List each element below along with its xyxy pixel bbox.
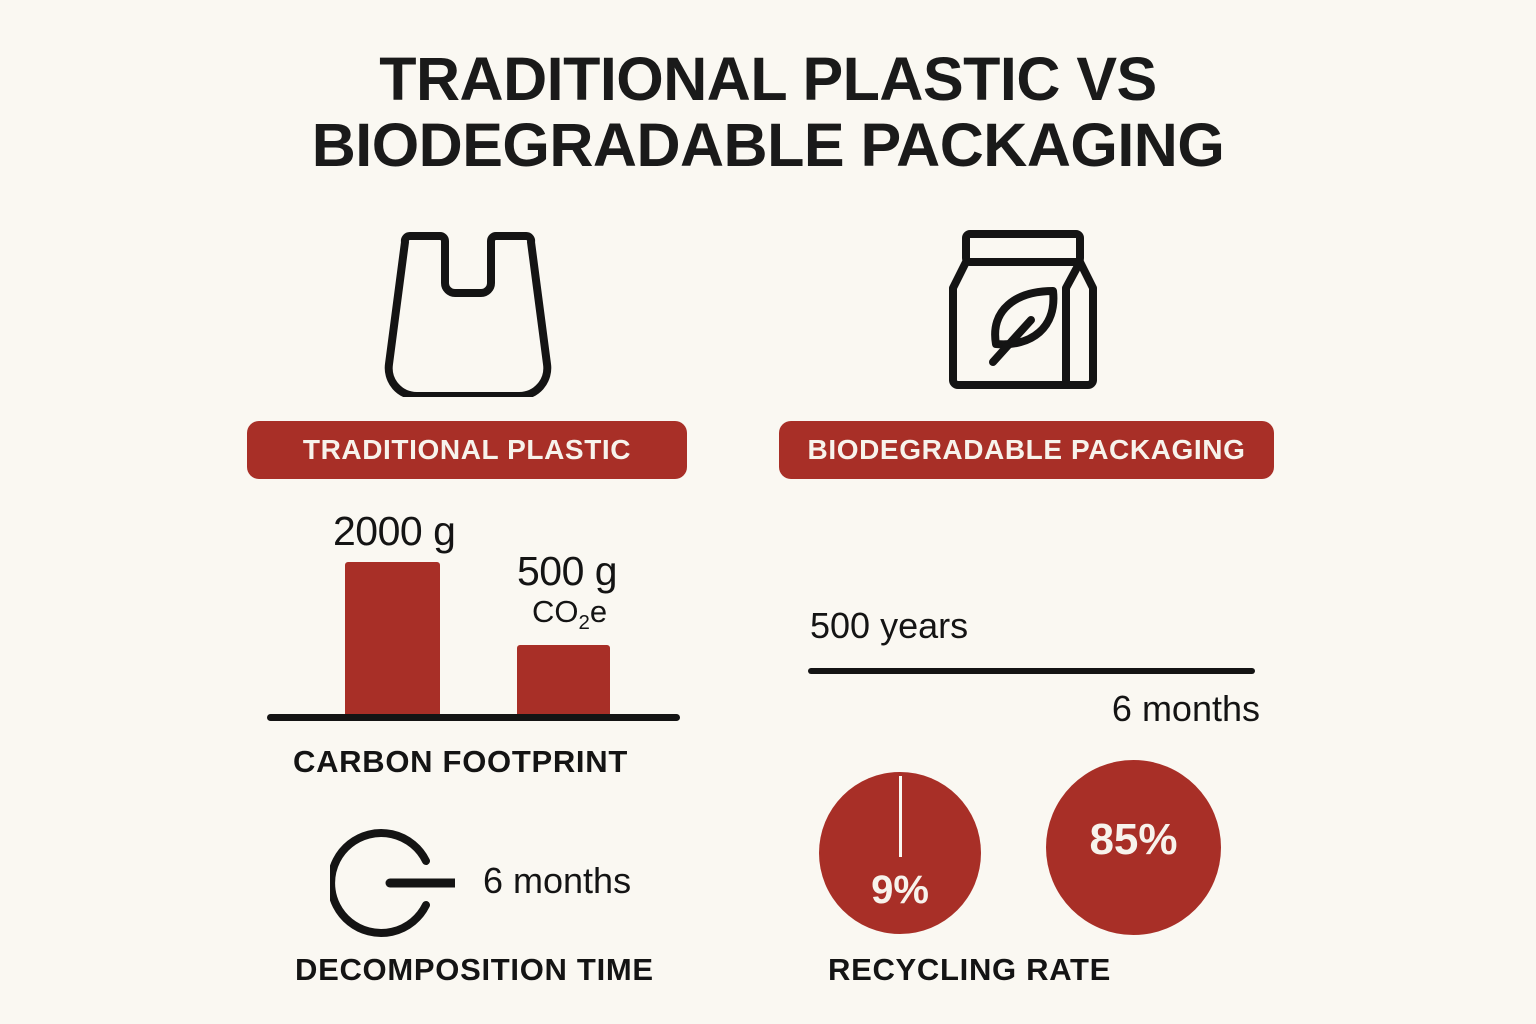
section-label-carbon-footprint: CARBON FOOTPRINT — [293, 744, 628, 780]
bar-biodegradable-carbon — [517, 645, 610, 714]
decomposition-time-value: 6 months — [483, 860, 631, 902]
pie-value-biodegradable: 85% — [1046, 815, 1221, 865]
bar-value-biodegradable: 500 g — [517, 548, 617, 595]
bar-traditional-carbon — [345, 562, 440, 714]
section-label-recycling-rate: RECYCLING RATE — [828, 952, 1111, 988]
title-line-1: TRADITIONAL PLASTIC VS — [0, 46, 1536, 112]
pie-recycling-traditional: 9% — [819, 772, 981, 934]
title-line-2: BIODEGRADABLE PACKAGING — [0, 112, 1536, 178]
badge-left-label: TRADITIONAL PLASTIC — [303, 434, 631, 466]
section-label-decomposition-time: DECOMPOSITION TIME — [295, 952, 654, 988]
timeline-label-6-months: 6 months — [1112, 688, 1260, 730]
open-circle-with-line-icon — [330, 827, 455, 939]
bar-value-traditional: 2000 g — [333, 508, 455, 555]
badge-biodegradable-packaging[interactable]: BIODEGRADABLE PACKAGING — [779, 421, 1274, 479]
timeline-label-500-years: 500 years — [810, 605, 968, 647]
carbon-chart-baseline — [267, 714, 680, 721]
pie-value-traditional: 9% — [819, 868, 981, 913]
badge-traditional-plastic[interactable]: TRADITIONAL PLASTIC — [247, 421, 687, 479]
carbon-unit-note: CO2e — [532, 594, 607, 635]
timeline-rule — [808, 668, 1255, 674]
badge-right-label: BIODEGRADABLE PACKAGING — [808, 434, 1246, 466]
infographic-root: TRADITIONAL PLASTIC VS BIODEGRADABLE PAC… — [0, 0, 1536, 1024]
page-title: TRADITIONAL PLASTIC VS BIODEGRADABLE PAC… — [0, 46, 1536, 178]
pie-recycling-biodegradable: 85% — [1046, 760, 1221, 935]
pie-slice-divider — [899, 776, 902, 857]
decomposition-timeline: 500 years 6 months — [800, 605, 1270, 735]
paper-bag-with-leaf-icon — [935, 222, 1110, 397]
plastic-shopping-bag-icon — [373, 222, 563, 397]
